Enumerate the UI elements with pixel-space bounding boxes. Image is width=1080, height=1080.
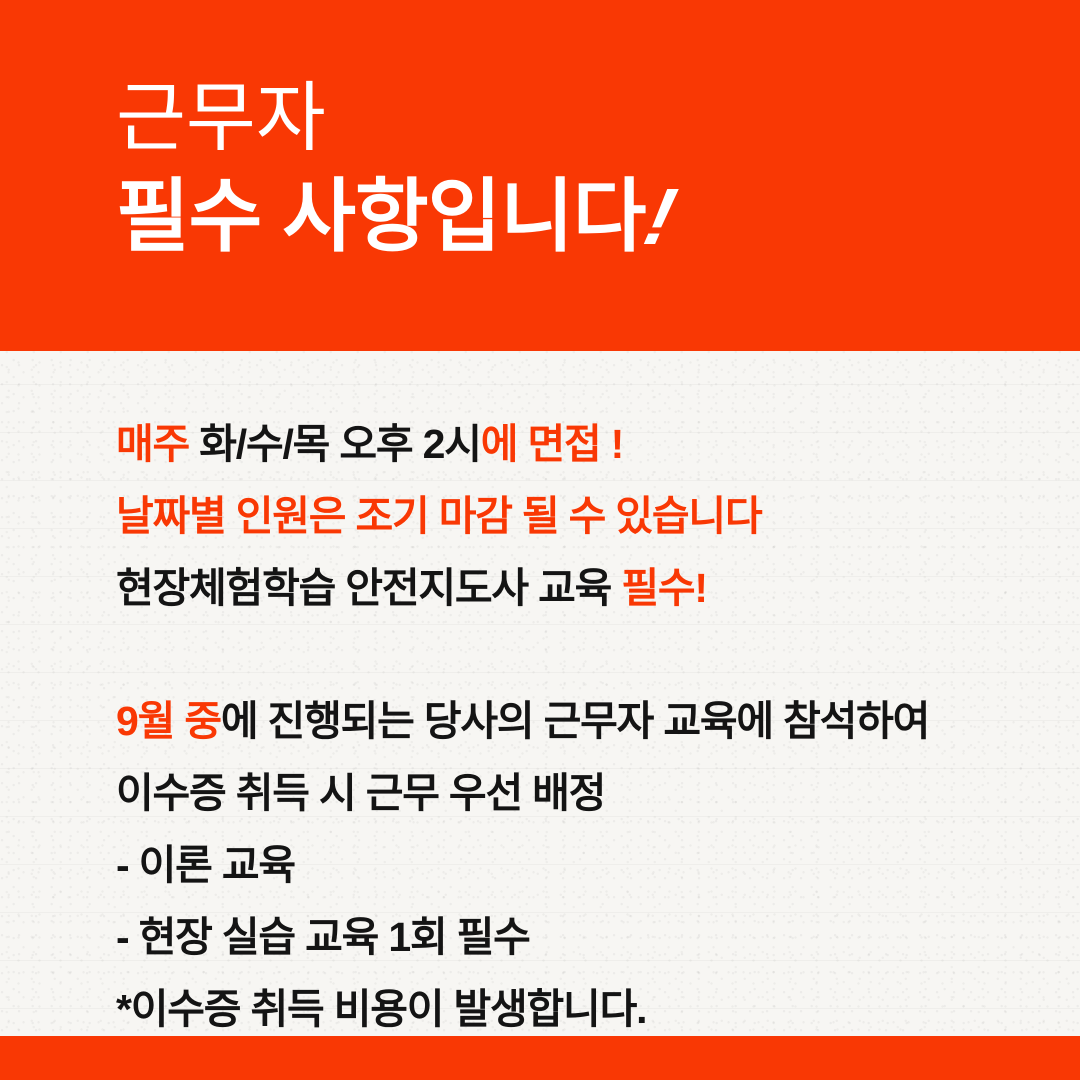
notice-block-training: 9월 중에 진행되는 당사의 근무자 교육에 참석하여이수증 취득 시 근무 우… — [116, 685, 929, 1045]
title-line-secondary: 필수 사항입니다! — [116, 170, 673, 264]
poster-title: 근무자 필수 사항입니다! — [116, 76, 673, 264]
notice-line-september-training: 9월 중에 진행되는 당사의 근무자 교육에 참석하여 — [116, 685, 929, 757]
body-text: 이수증 취득 시 근무 우선 배정 — [116, 770, 605, 816]
body-text: 에 진행되는 당사의 근무자 교육에 참석하여 — [221, 698, 929, 744]
highlight-text: 필수! — [621, 565, 707, 611]
highlight-text: 매주 — [116, 421, 199, 467]
body-text: - 이론 교육 — [116, 842, 295, 888]
body-text: 현장체험학습 안전지도사 교육 — [116, 565, 621, 611]
body-text: 화/수/목 오후 2시 — [199, 421, 481, 467]
highlight-text: 9월 중 — [116, 698, 221, 744]
title-line-primary: 근무자 — [116, 76, 673, 162]
body-text: *이수증 취득 비용이 발생합니다. — [116, 986, 646, 1032]
notice-block-schedule: 매주 화/수/목 오후 2시에 면접 !날짜별 인원은 조기 마감 될 수 있습… — [116, 408, 761, 624]
notice-line-theory-course: - 이론 교육 — [116, 829, 929, 901]
notice-line-field-practice-course: - 현장 실습 교육 1회 필수 — [116, 901, 929, 973]
notice-line-priority-assignment: 이수증 취득 시 근무 우선 배정 — [116, 757, 929, 829]
notice-line-fee-disclaimer: *이수증 취득 비용이 발생합니다. — [116, 973, 929, 1045]
poster-canvas: 근무자 필수 사항입니다! 매주 화/수/목 오후 2시에 면접 !날짜별 인원… — [0, 0, 1080, 1080]
notice-line-interview-schedule: 매주 화/수/목 오후 2시에 면접 ! — [116, 408, 761, 480]
title-line-secondary-text: 필수 사항입니다 — [116, 172, 645, 261]
body-text: - 현장 실습 교육 1회 필수 — [116, 914, 530, 960]
highlight-text: 날짜별 인원은 조기 마감 될 수 있습니다 — [116, 493, 761, 539]
notice-line-capacity-notice: 날짜별 인원은 조기 마감 될 수 있습니다 — [116, 480, 761, 552]
notice-line-safety-training-required: 현장체험학습 안전지도사 교육 필수! — [116, 552, 761, 624]
highlight-text: 에 면접 ! — [481, 421, 623, 467]
